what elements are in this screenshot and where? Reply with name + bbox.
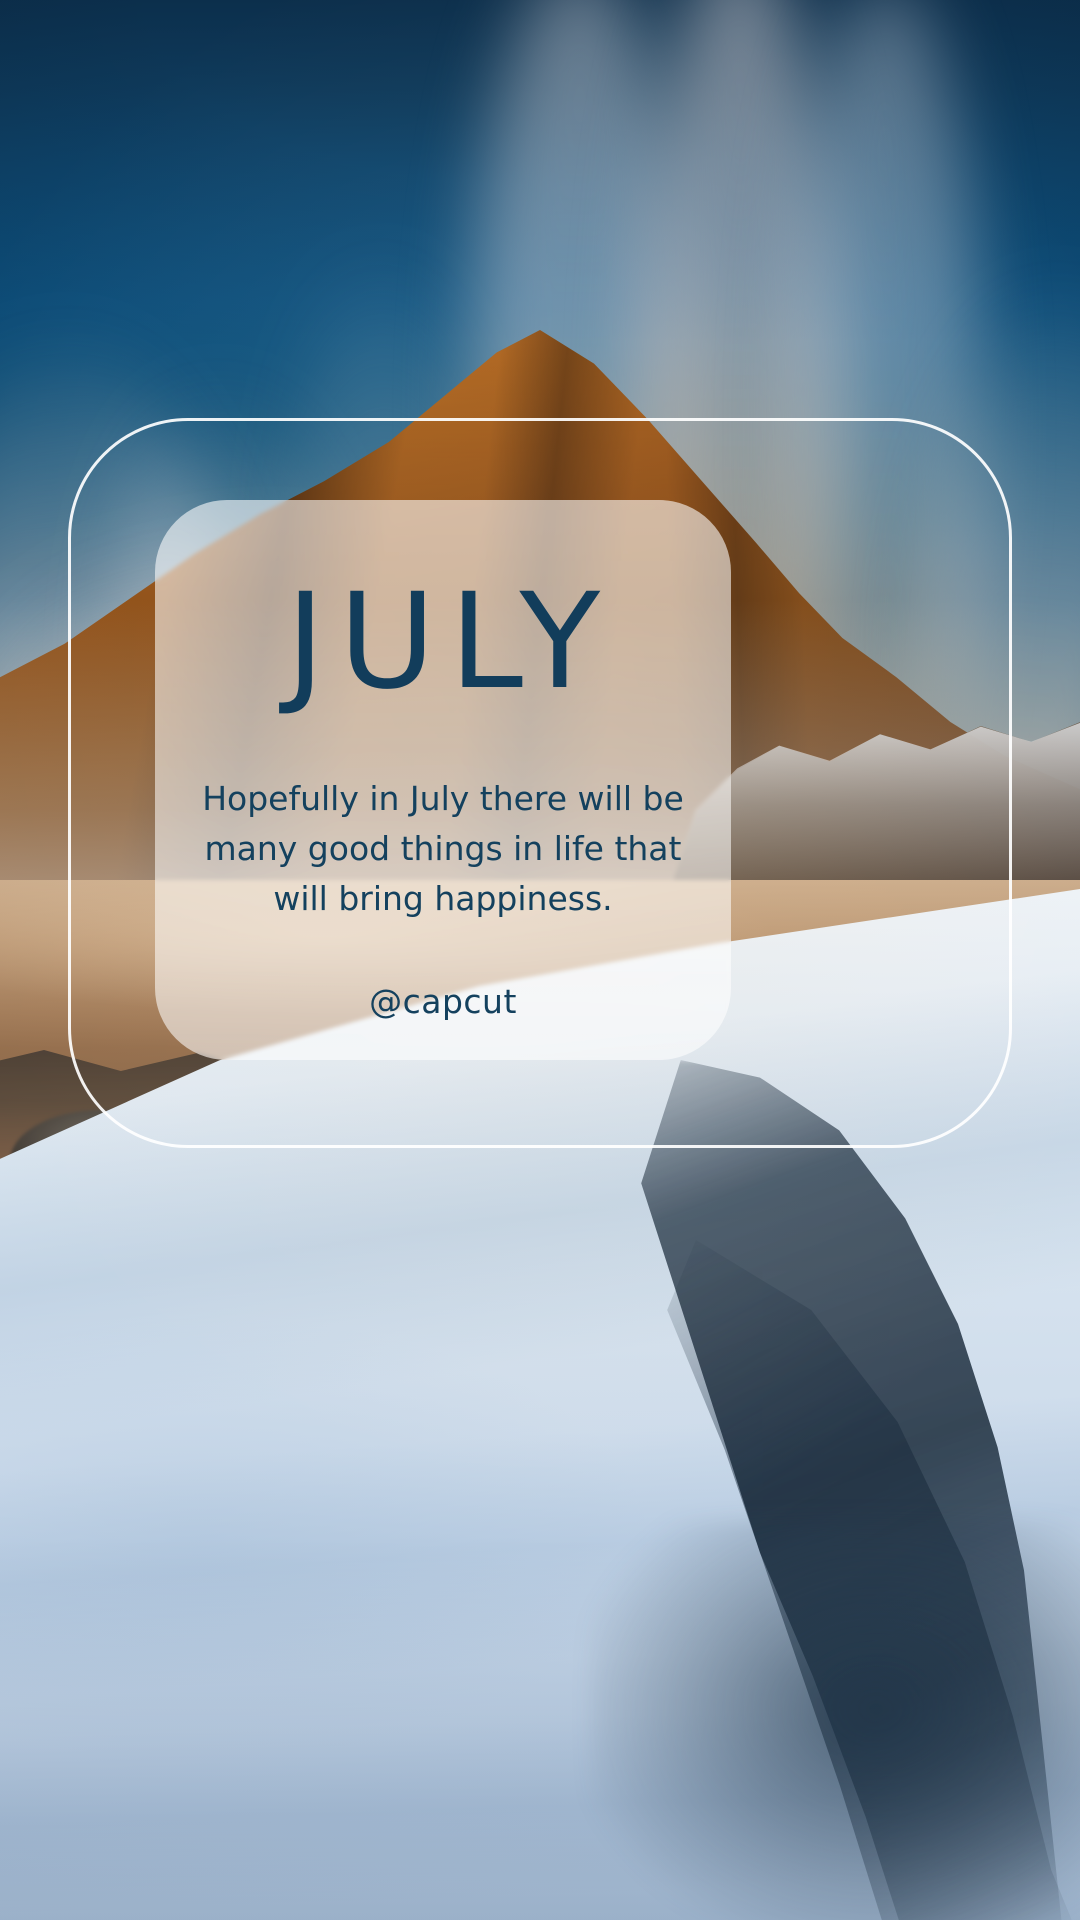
handle-text: @capcut [369, 982, 517, 1021]
poster-canvas: JULY Hopefully in July there will be man… [0, 0, 1080, 1920]
body-text: Hopefully in July there will be many goo… [193, 774, 693, 924]
page-title: JULY [272, 576, 614, 708]
card-content: JULY Hopefully in July there will be man… [155, 500, 731, 1060]
